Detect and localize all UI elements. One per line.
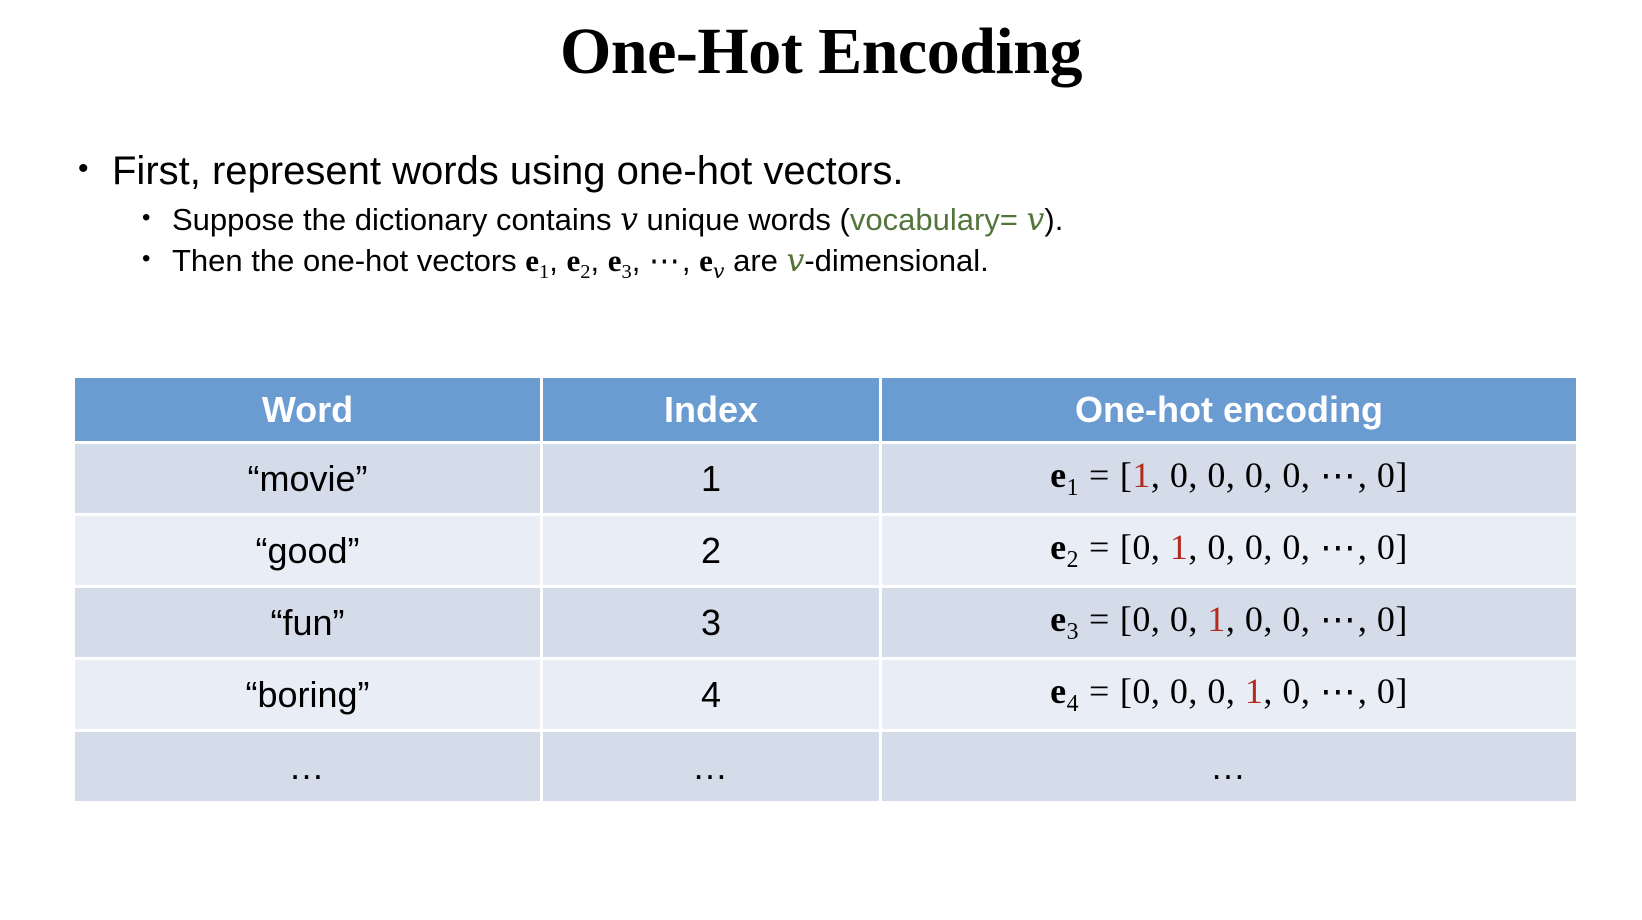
- cell-index: 4: [543, 660, 879, 729]
- vector-symbol: e: [608, 243, 622, 278]
- cell-one-hot-encoding: e3=[0, 0, 1, 0, 0, ⋯, 0]: [882, 588, 1576, 657]
- cell-index: …: [543, 732, 879, 801]
- table-header-row: Word Index One-hot encoding: [75, 378, 1576, 441]
- hot-value: 1: [1207, 599, 1226, 639]
- column-header-one-hot-encoding: One-hot encoding: [882, 378, 1576, 441]
- bullet-level2-vocabulary-text: Suppose the dictionary contains 𝑣 unique…: [172, 201, 1578, 240]
- ellipsis-glyph: ⋯: [1320, 599, 1358, 639]
- zero-value: 0: [1207, 671, 1226, 711]
- vector-symbol: e: [566, 243, 580, 278]
- zero-value: 0: [1132, 527, 1151, 567]
- vector-subscript: 𝑣: [713, 261, 725, 283]
- zero-value: 0: [1245, 599, 1264, 639]
- bullet-level2-dimension: • Then the one-hot vectors e1, e2, e3, ⋯…: [142, 242, 1578, 285]
- zero-value: 0: [1207, 455, 1226, 495]
- cell-word: “fun”: [75, 588, 540, 657]
- cell-index: 3: [543, 588, 879, 657]
- cell-one-hot-encoding: e4=[0, 0, 0, 1, 0, ⋯, 0]: [882, 660, 1576, 729]
- zero-value: 0: [1282, 671, 1301, 711]
- sub-bullet-prefix: Suppose the dictionary contains: [172, 202, 620, 237]
- vocabulary-label: vocabulary=: [850, 202, 1027, 237]
- sub-bullet-suffix: ).: [1044, 202, 1063, 237]
- bullet-list: • First, represent words using one-hot v…: [78, 148, 1578, 287]
- vector-subscript: 3: [1067, 620, 1079, 646]
- bullet-level1: • First, represent words using one-hot v…: [78, 148, 1578, 195]
- equals-sign: =: [1089, 455, 1110, 495]
- cell-word: “movie”: [75, 444, 540, 513]
- math-variable-v: 𝑣: [787, 243, 805, 278]
- column-header-index: Index: [543, 378, 879, 441]
- vector-symbol: e2: [1050, 527, 1079, 567]
- column-header-word: Word: [75, 378, 540, 441]
- math-variable-v: 𝑣: [620, 202, 638, 237]
- zero-value: 0: [1207, 527, 1226, 567]
- hot-value: 1: [1132, 455, 1151, 495]
- vector-e2: e2: [566, 243, 590, 278]
- bullet-level2-dimension-text: Then the one-hot vectors e1, e2, e3, ⋯, …: [172, 242, 1578, 285]
- table-row: “good”2e2=[0, 1, 0, 0, 0, ⋯, 0]: [75, 516, 1576, 585]
- cell-word: “good”: [75, 516, 540, 585]
- ellipsis-glyph: ⋯: [649, 243, 682, 278]
- sub-bullet-middle: are: [724, 243, 786, 278]
- vector-subscript: 4: [1067, 692, 1079, 718]
- bullet-level1-text: First, represent words using one-hot vec…: [112, 148, 1578, 195]
- bullet-marker-icon: •: [142, 242, 172, 277]
- cell-one-hot-encoding: e2=[0, 1, 0, 0, 0, ⋯, 0]: [882, 516, 1576, 585]
- table-body: “movie”1e1=[1, 0, 0, 0, 0, ⋯, 0]“good”2e…: [75, 444, 1576, 801]
- vector-subscript: 1: [539, 261, 549, 283]
- one-hot-vector-formula: e1=[1, 0, 0, 0, 0, ⋯, 0]: [1050, 454, 1408, 502]
- cell-index: 2: [543, 516, 879, 585]
- vocabulary-variable-v: 𝑣: [1027, 202, 1045, 237]
- ellipsis-glyph: ⋯: [1320, 527, 1358, 567]
- ellipsis-glyph: ⋯: [1320, 455, 1358, 495]
- hot-value: 1: [1170, 527, 1189, 567]
- zero-value: 0: [1170, 671, 1189, 711]
- equals-sign: =: [1089, 599, 1110, 639]
- vector-e3: e3: [608, 243, 632, 278]
- cell-word: “boring”: [75, 660, 540, 729]
- table-row: “boring”4e4=[0, 0, 0, 1, 0, ⋯, 0]: [75, 660, 1576, 729]
- cell-one-hot-encoding: e1=[1, 0, 0, 0, 0, ⋯, 0]: [882, 444, 1576, 513]
- zero-value: 0: [1132, 671, 1151, 711]
- table-row: ………: [75, 732, 1576, 801]
- vector-symbol: e4: [1050, 671, 1079, 711]
- zero-value: 0: [1377, 455, 1396, 495]
- cell-index: 1: [543, 444, 879, 513]
- bullet-level2-vocabulary: • Suppose the dictionary contains 𝑣 uniq…: [142, 201, 1578, 240]
- bullet-marker-icon: •: [78, 148, 112, 191]
- one-hot-encoding-table: Word Index One-hot encoding “movie”1e1=[…: [72, 375, 1579, 804]
- zero-value: 0: [1377, 671, 1396, 711]
- zero-value: 0: [1170, 599, 1189, 639]
- one-hot-vector-formula: e2=[0, 1, 0, 0, 0, ⋯, 0]: [1050, 526, 1408, 574]
- ellipsis-glyph: ⋯: [1320, 671, 1358, 711]
- vector-subscript: 1: [1067, 476, 1079, 502]
- sub-bullet-prefix: Then the one-hot vectors: [172, 243, 525, 278]
- vector-symbol: e: [525, 243, 539, 278]
- cell-one-hot-encoding: …: [882, 732, 1576, 801]
- vector-subscript: 3: [621, 261, 631, 283]
- hot-value: 1: [1245, 671, 1264, 711]
- one-hot-vector-formula: e4=[0, 0, 0, 1, 0, ⋯, 0]: [1050, 670, 1408, 718]
- zero-value: 0: [1170, 455, 1189, 495]
- bullet-marker-icon: •: [142, 201, 172, 236]
- page-title: One-Hot Encoding: [0, 14, 1642, 90]
- equals-sign: =: [1089, 527, 1110, 567]
- zero-value: 0: [1377, 599, 1396, 639]
- sub-bullet-mid: unique words (: [638, 202, 850, 237]
- table-row: “fun”3e3=[0, 0, 1, 0, 0, ⋯, 0]: [75, 588, 1576, 657]
- vector-subscript: 2: [580, 261, 590, 283]
- one-hot-vector-formula: e3=[0, 0, 1, 0, 0, ⋯, 0]: [1050, 598, 1408, 646]
- zero-value: 0: [1282, 527, 1301, 567]
- zero-value: 0: [1377, 527, 1396, 567]
- one-hot-encoding-table-container: Word Index One-hot encoding “movie”1e1=[…: [75, 378, 1570, 801]
- zero-value: 0: [1132, 599, 1151, 639]
- table-row: “movie”1e1=[1, 0, 0, 0, 0, ⋯, 0]: [75, 444, 1576, 513]
- zero-value: 0: [1245, 527, 1264, 567]
- vector-ev: e𝑣: [699, 243, 724, 278]
- zero-value: 0: [1282, 599, 1301, 639]
- vector-symbol: e3: [1050, 599, 1079, 639]
- cell-word: …: [75, 732, 540, 801]
- equals-sign: =: [1089, 671, 1110, 711]
- vector-symbol: e1: [1050, 455, 1079, 495]
- zero-value: 0: [1282, 455, 1301, 495]
- vector-symbol: e: [699, 243, 713, 278]
- zero-value: 0: [1245, 455, 1264, 495]
- vector-subscript: 2: [1067, 548, 1079, 574]
- vector-e1: e1: [525, 243, 549, 278]
- sub-bullet-suffix: -dimensional.: [804, 243, 988, 278]
